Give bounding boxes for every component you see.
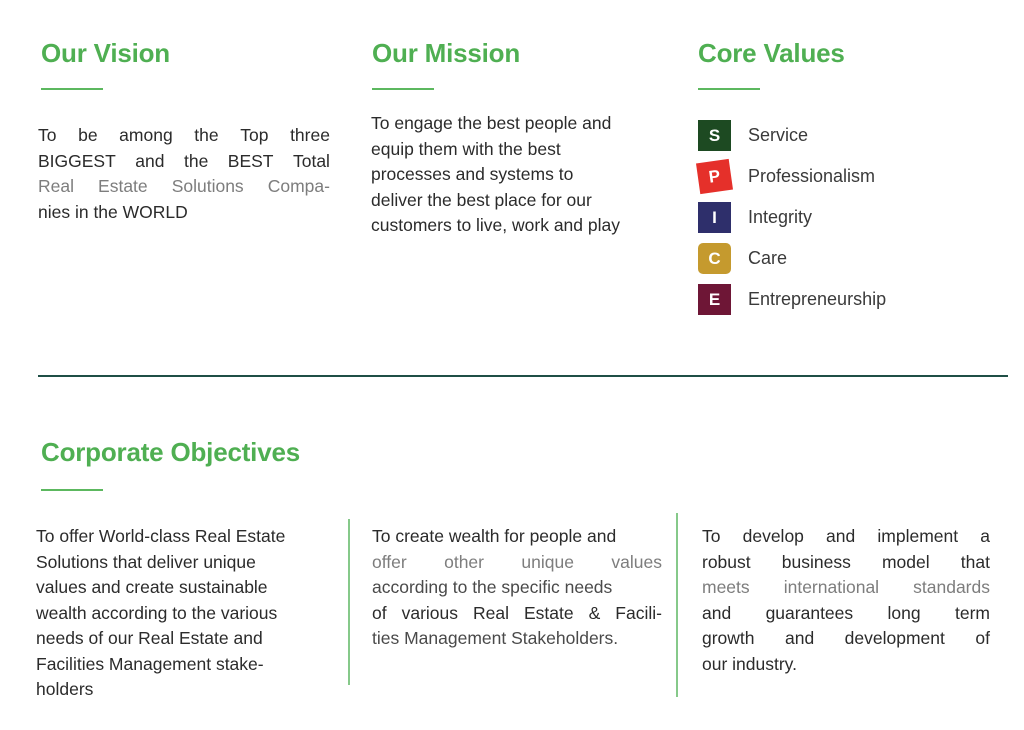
objective-3-text-line-2: robustbusinessmodelthat (702, 550, 990, 576)
objective-2-text-line-5: ties Management Stakeholders. (372, 626, 662, 652)
core-value-label: Care (748, 248, 787, 269)
text-run: term (955, 601, 990, 627)
corporate-objectives-heading: Corporate Objectives (41, 437, 300, 468)
mission-text-line-1: To engage the best people and (371, 111, 663, 137)
text-run: Compa- (268, 174, 330, 200)
text-run: a (980, 524, 990, 550)
our-vision-body: TobeamongtheTopthreeBIGGESTandtheBESTTot… (38, 123, 330, 225)
objective-1-text-line-2: Solutions that deliver unique (36, 550, 323, 576)
text-run: Top (240, 123, 268, 149)
our-vision-heading: Our Vision (41, 38, 170, 69)
core-value-row-service[interactable]: SService (698, 115, 886, 156)
text-run: model (882, 550, 930, 576)
text-run: unique (521, 550, 574, 576)
text-run: and (135, 149, 164, 175)
our-mission-heading-rule (372, 88, 434, 90)
text-run: Total (293, 149, 330, 175)
text-run: be (78, 123, 97, 149)
corporate-objective-column-3: Todevelopandimplementarobustbusinessmode… (702, 524, 990, 677)
text-run: the (194, 123, 218, 149)
corporate-objective-column-2: To create wealth for people andofferothe… (372, 524, 662, 652)
text-run: development (845, 626, 945, 652)
text-run: BEST (228, 149, 274, 175)
core-values-heading-rule (698, 88, 760, 90)
core-value-label: Integrity (748, 207, 812, 228)
vision-text-line-3: RealEstateSolutionsCompa- (38, 174, 330, 200)
objective-1-text-line-7: holders (36, 677, 323, 703)
objective-2-text-line-2: offerotheruniquevalues (372, 550, 662, 576)
objective-1-text-line-4: wealth according to the various (36, 601, 323, 627)
text-run: BIGGEST (38, 149, 116, 175)
text-run: To (702, 524, 720, 550)
text-run: offer (372, 550, 407, 576)
mission-text-line-3: processes and systems to (371, 162, 663, 188)
letter-e-badge-icon: E (698, 284, 731, 315)
objective-3-text-line-3: meetsinternationalstandards (702, 575, 990, 601)
corporate-objective-column-1: To offer World-class Real EstateSolution… (36, 524, 323, 703)
text-run: Real (38, 174, 74, 200)
text-run: Estate (98, 174, 148, 200)
objective-1-text-line-5: needs of our Real Estate and (36, 626, 323, 652)
text-run: three (290, 123, 330, 149)
letter-p-badge-icon: P (696, 159, 733, 194)
text-run: that (961, 550, 990, 576)
text-run: To (38, 123, 56, 149)
corporate-objectives-heading-rule (41, 489, 103, 491)
text-run: implement (877, 524, 958, 550)
vision-text-line-1: TobeamongtheTopthree (38, 123, 330, 149)
our-vision-heading-rule (41, 88, 103, 90)
objective-column-rule-2 (676, 513, 678, 697)
text-run: guarantees (766, 601, 854, 627)
core-values-list: SServicePProfessionalismIIntegrityCCareE… (698, 115, 886, 320)
core-value-row-entrepreneurship[interactable]: EEntrepreneurship (698, 279, 886, 320)
text-run: values (611, 550, 662, 576)
text-run: develop (743, 524, 804, 550)
core-value-row-professionalism[interactable]: PProfessionalism (698, 156, 886, 197)
mission-text-line-4: deliver the best place for our (371, 188, 663, 214)
section-divider (38, 375, 1008, 377)
text-run: growth (702, 626, 755, 652)
text-run: international (784, 575, 879, 601)
slide-canvas: Our Vision TobeamongtheTopthreeBIGGESTan… (0, 0, 1024, 730)
text-run: and (785, 626, 814, 652)
text-run: & (589, 601, 601, 627)
text-run: other (444, 550, 484, 576)
text-run: long (888, 601, 921, 627)
objective-3-text-line-1: Todevelopandimplementa (702, 524, 990, 550)
objective-2-text-line-1: To create wealth for people and (372, 524, 662, 550)
objective-2-text-line-3: according to the specific needs (372, 575, 662, 601)
text-run: standards (913, 575, 990, 601)
objective-column-rule-1 (348, 519, 350, 685)
core-value-label: Entrepreneurship (748, 289, 886, 310)
vision-text-line-4: nies in the WORLD (38, 200, 330, 226)
our-mission-heading: Our Mission (372, 38, 520, 69)
text-run: Estate (524, 601, 574, 627)
text-run: the (184, 149, 208, 175)
objective-3-text-line-4: andguaranteeslongterm (702, 601, 990, 627)
core-value-label: Professionalism (748, 166, 875, 187)
text-run: various (402, 601, 458, 627)
text-run: and (826, 524, 855, 550)
text-run: Facili- (615, 601, 662, 627)
mission-text-line-5: customers to live, work and play (371, 213, 663, 239)
text-run: and (702, 601, 731, 627)
letter-s-badge-icon: S (698, 120, 731, 151)
text-run: meets (702, 575, 750, 601)
objective-1-text-line-3: values and create sustainable (36, 575, 323, 601)
text-run: of (975, 626, 990, 652)
letter-c-badge-icon: C (698, 243, 731, 274)
objective-3-text-line-6: our industry. (702, 652, 990, 678)
core-value-label: Service (748, 125, 808, 146)
text-run: business (782, 550, 851, 576)
vision-text-line-2: BIGGESTandtheBESTTotal (38, 149, 330, 175)
text-run: Real (473, 601, 509, 627)
text-run: robust (702, 550, 751, 576)
objective-3-text-line-5: growthanddevelopmentof (702, 626, 990, 652)
letter-i-badge-icon: I (698, 202, 731, 233)
objective-1-text-line-6: Facilities Management stake- (36, 652, 323, 678)
our-mission-body: To engage the best people andequip them … (371, 111, 663, 239)
objective-1-text-line-1: To offer World-class Real Estate (36, 524, 323, 550)
core-value-row-care[interactable]: CCare (698, 238, 886, 279)
mission-text-line-2: equip them with the best (371, 137, 663, 163)
objective-2-text-line-4: ofvariousRealEstate&Facili- (372, 601, 662, 627)
text-run: among (119, 123, 173, 149)
core-values-heading: Core Values (698, 38, 845, 69)
core-value-row-integrity[interactable]: IIntegrity (698, 197, 886, 238)
text-run: of (372, 601, 387, 627)
text-run: Solutions (172, 174, 244, 200)
